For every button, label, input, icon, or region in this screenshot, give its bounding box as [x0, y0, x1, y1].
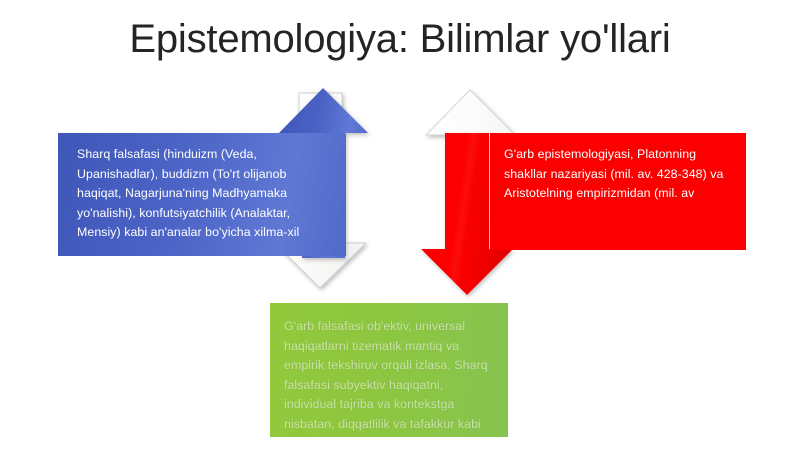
western-epistemology-text: G'arb epistemologiyasi, Platonning shakl…	[504, 145, 734, 204]
eastern-philosophy-text: Sharq falsafasi (hinduizm (Veda, Upanish…	[77, 145, 302, 243]
synthesis-text: G'arb falsafasi ob'ektiv, universal haqi…	[284, 317, 495, 434]
eastern-philosophy-box[interactable]: Sharq falsafasi (hinduizm (Veda, Upanish…	[58, 133, 346, 256]
western-epistemology-box[interactable]: G'arb epistemologiyasi, Platonning shakl…	[490, 133, 746, 250]
synthesis-box[interactable]: G'arb falsafasi ob'ektiv, universal haqi…	[270, 303, 508, 437]
slide-canvas: Epistemologiya: Bilimlar yo'llari	[0, 0, 800, 449]
